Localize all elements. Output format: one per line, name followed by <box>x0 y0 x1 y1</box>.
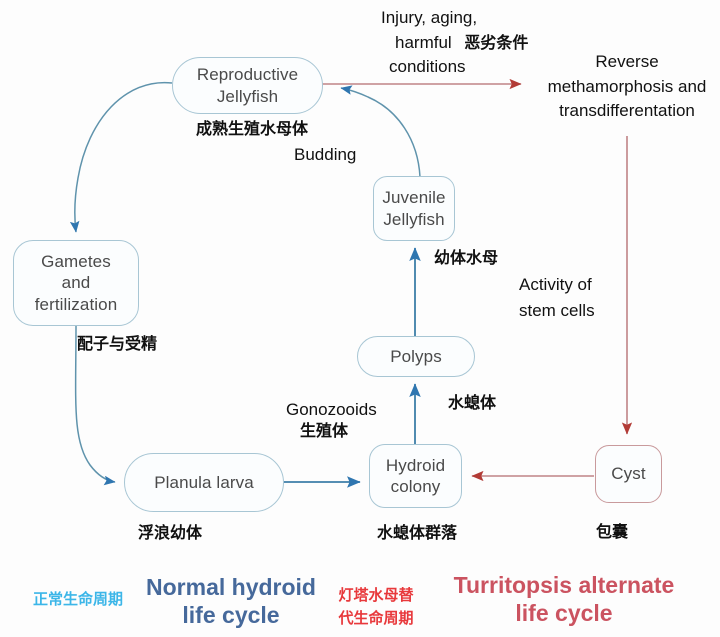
label-reproductive-jellyfish-cn: 成熟生殖水母体 <box>196 120 308 141</box>
node-planula-larva-line1: Planula larva <box>154 472 254 493</box>
label-reverse-line1: Reverse <box>534 50 720 75</box>
node-gametes-line2: and <box>62 272 91 293</box>
legend-normal-cycle-en: Normal hydroid life cycle <box>142 573 320 629</box>
node-cyst-line1: Cyst <box>611 463 645 484</box>
label-gametes-cn: 配子与受精 <box>77 335 157 356</box>
legend-normal-cycle-cn: 正常生命周期 <box>33 591 123 609</box>
label-gonozooids-cn: 生殖体 <box>300 422 348 443</box>
label-injury-line3: conditions <box>381 55 528 80</box>
node-polyps[interactable]: Polyps <box>357 336 475 377</box>
node-cyst[interactable]: Cyst <box>595 445 662 503</box>
label-injury-line2: harmful <box>395 33 452 52</box>
legend-normal-cycle-en-line2: life cycle <box>142 601 320 629</box>
label-hydroid-colony-cn: 水螅体群落 <box>377 524 457 545</box>
legend-alternate-cycle-cn-line1: 灯塔水母替 <box>329 585 423 608</box>
label-stem-cells-line2: stem cells <box>519 298 595 324</box>
label-injury-line1: Injury, aging, <box>381 6 528 31</box>
label-reverse-metamorphosis: Reverse methamorphosis and transdifferen… <box>534 50 720 124</box>
label-gonozooids-en: Gonozooids <box>286 399 377 421</box>
label-planula-cn: 浮浪幼体 <box>138 524 202 545</box>
label-stem-cells-line1: Activity of <box>519 272 595 298</box>
node-reproductive-jellyfish[interactable]: Reproductive Jellyfish <box>172 57 323 114</box>
label-reverse-line2: methamorphosis and <box>534 75 720 100</box>
legend-alternate-cycle-cn-line2: 代生命周期 <box>329 608 423 631</box>
label-cyst-cn: 包囊 <box>596 523 628 544</box>
legend-normal-cycle-en-line1: Normal hydroid <box>142 573 320 601</box>
label-juvenile-cn: 幼体水母 <box>434 249 498 270</box>
label-injury-conditions: Injury, aging, harmful 恶劣条件 conditions <box>381 6 528 80</box>
node-juvenile-jellyfish[interactable]: Juvenile Jellyfish <box>373 176 455 241</box>
node-juvenile-jellyfish-line2: Jellyfish <box>383 209 444 230</box>
label-budding: Budding <box>294 144 356 166</box>
legend-alternate-cycle-en-line1: Turritopsis alternate <box>431 571 697 599</box>
node-gametes-line1: Gametes <box>41 251 111 272</box>
node-juvenile-jellyfish-line1: Juvenile <box>382 187 445 208</box>
node-polyps-line1: Polyps <box>390 346 442 367</box>
label-reverse-line3: transdifferentation <box>534 99 720 124</box>
node-hydroid-colony-line2: colony <box>391 476 441 497</box>
label-injury-cn: 恶劣条件 <box>464 35 528 52</box>
legend-alternate-cycle-en: Turritopsis alternate life cycle <box>431 571 697 627</box>
node-hydroid-colony[interactable]: Hydroid colony <box>369 444 462 508</box>
node-gametes-line3: fertilization <box>35 294 118 315</box>
legend-alternate-cycle-cn: 灯塔水母替 代生命周期 <box>329 585 423 630</box>
label-stem-cells-activity: Activity of stem cells <box>519 272 595 323</box>
label-polyps-cn: 水螅体 <box>448 394 496 415</box>
node-reproductive-jellyfish-line1: Reproductive <box>197 64 298 85</box>
node-hydroid-colony-line1: Hydroid <box>386 455 445 476</box>
jellyfish-life-cycle-diagram: Reproductive Jellyfish Gametes and ferti… <box>0 0 720 637</box>
legend-alternate-cycle-en-line2: life cycle <box>431 599 697 627</box>
node-reproductive-jellyfish-line2: Jellyfish <box>217 86 278 107</box>
node-gametes[interactable]: Gametes and fertilization <box>13 240 139 326</box>
edge-reproductive-to-gametes <box>75 83 172 232</box>
node-planula-larva[interactable]: Planula larva <box>124 453 284 512</box>
